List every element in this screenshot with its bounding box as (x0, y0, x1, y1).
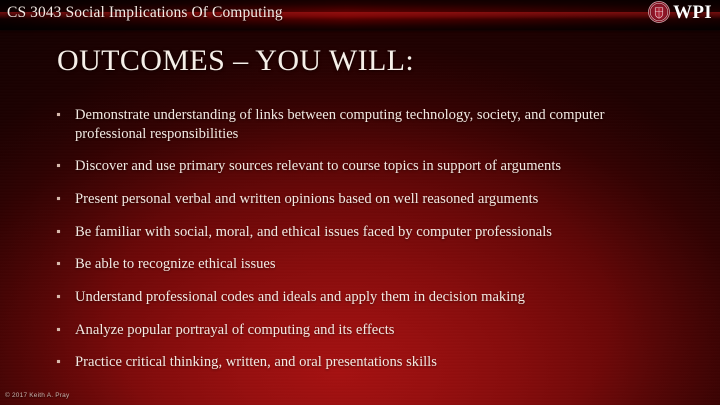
list-item: Discover and use primary sources relevan… (57, 157, 667, 176)
course-title: CS 3043 Social Implications Of Computing (7, 4, 283, 22)
list-item: Be familiar with social, moral, and ethi… (57, 223, 667, 242)
list-item-label: Present personal verbal and written opin… (75, 190, 667, 209)
square-bullet-icon (57, 190, 75, 200)
square-bullet-icon (57, 353, 75, 363)
list-item-label: Analyze popular portrayal of computing a… (75, 321, 667, 340)
list-item: Analyze popular portrayal of computing a… (57, 321, 667, 340)
square-bullet-icon (57, 157, 75, 167)
square-bullet-icon (57, 223, 75, 233)
square-bullet-icon (57, 288, 75, 298)
square-bullet-icon (57, 106, 75, 116)
list-item: Demonstrate understanding of links betwe… (57, 106, 667, 143)
list-item-label: Understand professional codes and ideals… (75, 288, 667, 307)
slide-title: OUTCOMES – YOU WILL: (57, 44, 414, 78)
list-item-label: Be familiar with social, moral, and ethi… (75, 223, 667, 242)
slide-header-bar: CS 3043 Social Implications Of Computing… (0, 0, 720, 30)
outcomes-bullet-list: Demonstrate understanding of links betwe… (57, 106, 667, 386)
list-item-label: Practice critical thinking, written, and… (75, 353, 667, 372)
square-bullet-icon (57, 321, 75, 331)
list-item-label: Demonstrate understanding of links betwe… (75, 106, 667, 143)
wpi-brand-text: WPI (673, 3, 712, 22)
list-item: Be able to recognize ethical issues (57, 255, 667, 274)
list-item: Understand professional codes and ideals… (57, 288, 667, 307)
wpi-brand: WPI (648, 1, 712, 23)
presentation-slide: CS 3043 Social Implications Of Computing… (0, 0, 720, 405)
list-item: Present personal verbal and written opin… (57, 190, 667, 209)
list-item-label: Be able to recognize ethical issues (75, 255, 667, 274)
list-item-label: Discover and use primary sources relevan… (75, 157, 667, 176)
copyright-notice: © 2017 Keith A. Pray (5, 392, 69, 399)
wpi-seal-icon (648, 1, 670, 23)
square-bullet-icon (57, 255, 75, 265)
list-item: Practice critical thinking, written, and… (57, 353, 667, 372)
